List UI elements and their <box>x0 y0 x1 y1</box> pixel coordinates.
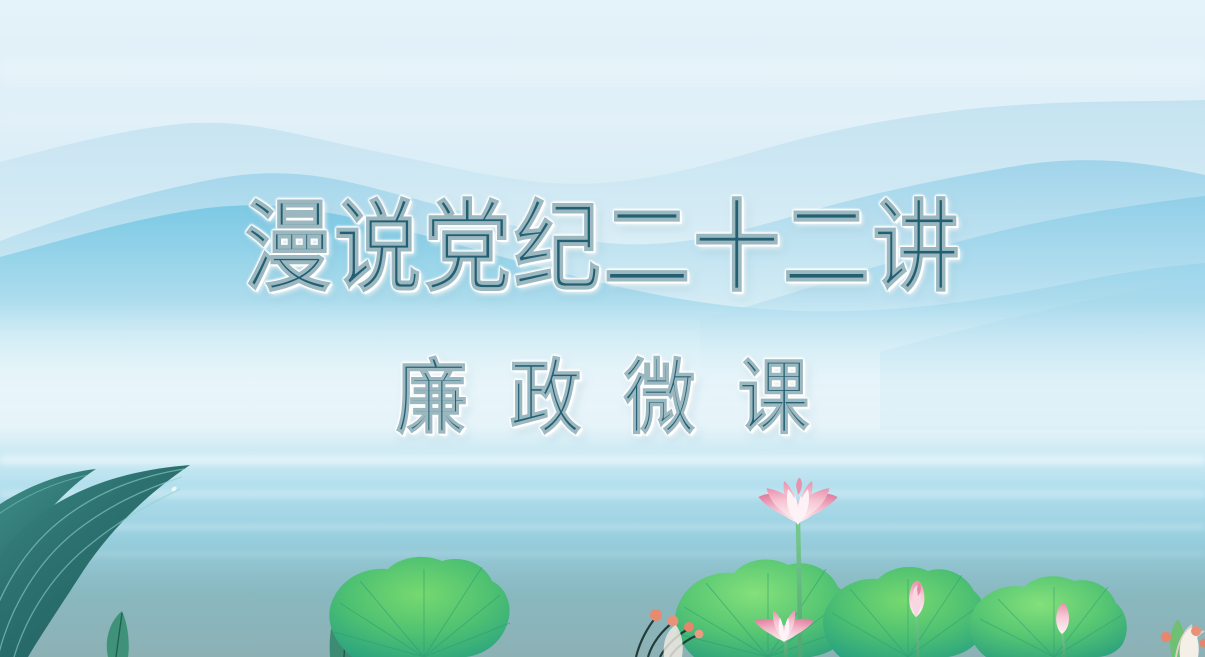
water-highlight-2 <box>0 489 1205 499</box>
title-block: 漫说党纪二十二讲 廉政微课 <box>0 196 1205 435</box>
water-highlight-4 <box>0 551 1205 557</box>
poster-sub-title: 廉政微课 <box>0 330 1205 450</box>
cloud-band-1 <box>0 58 1205 84</box>
water-highlight-3 <box>0 523 1205 531</box>
poster-stage: 漫说党纪二十二讲 廉政微课 <box>0 0 1205 657</box>
water-highlight-1 <box>0 453 1205 467</box>
poster-main-title: 漫说党纪二十二讲 <box>243 196 961 301</box>
lake-water <box>0 427 1205 657</box>
cloud-band-2 <box>0 112 1205 130</box>
sky-haze <box>0 0 1205 190</box>
